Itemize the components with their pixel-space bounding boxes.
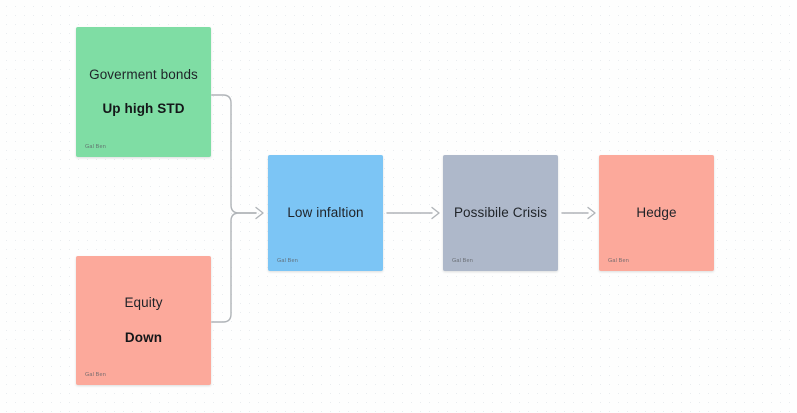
node-label: Low infaltion [287,205,363,221]
node-label: Goverment bonds [89,67,198,83]
node-text-group: Goverment bonds Up high STD [76,27,211,157]
node-signature: Gal Ben [452,258,473,264]
node-possibile-crisis[interactable]: Possibile Crisis Gal Ben [443,155,558,271]
connector-bonds-to-infaltion [211,95,256,213]
node-signature: Gal Ben [277,258,298,264]
node-text-group: Low infaltion [268,155,383,271]
connector-merge-arrowhead [256,208,263,219]
connector-crisis-to-hedge-arrowhead [588,208,595,219]
node-goverment-bonds[interactable]: Goverment bonds Up high STD Gal Ben [76,27,211,157]
node-text-group: Hedge [599,155,714,271]
node-text-group: Equity Down [76,256,211,385]
node-low-infaltion[interactable]: Low infaltion Gal Ben [268,155,383,271]
node-equity[interactable]: Equity Down Gal Ben [76,256,211,385]
node-text-group: Possibile Crisis [443,155,558,271]
node-label: Possibile Crisis [454,205,547,221]
node-label: Equity [124,295,162,311]
node-signature: Gal Ben [85,372,106,378]
connector-infaltion-to-crisis-arrowhead [432,208,439,219]
node-signature: Gal Ben [608,258,629,264]
node-signature: Gal Ben [85,144,106,150]
node-sublabel: Up high STD [102,101,184,117]
diagram-canvas: Goverment bonds Up high STD Gal Ben Equi… [0,0,797,413]
node-label: Hedge [636,205,676,221]
connector-equity-to-infaltion [211,213,256,322]
node-sublabel: Down [125,330,162,346]
node-hedge[interactable]: Hedge Gal Ben [599,155,714,271]
